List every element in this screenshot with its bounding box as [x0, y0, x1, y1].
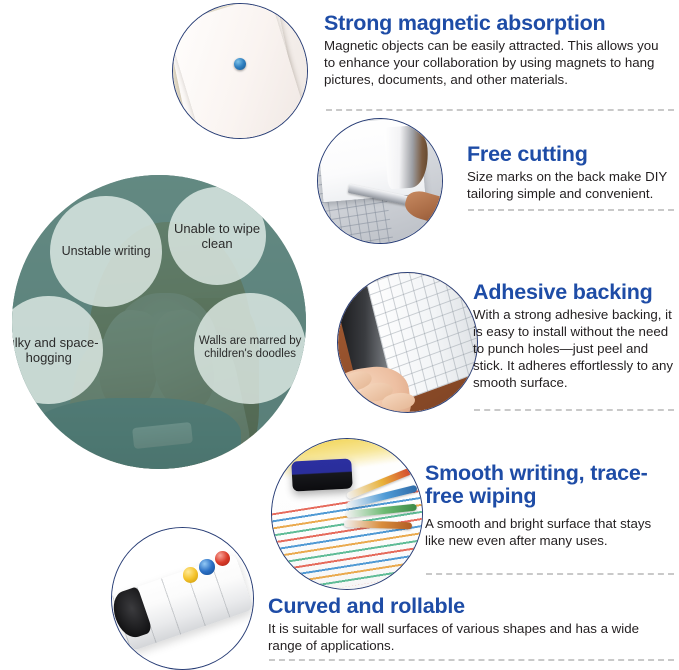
feature-body-free-cutting: Size marks on the back make DIY tailorin…: [467, 169, 672, 203]
whiteboard-eraser: [291, 458, 352, 491]
feature-title-smooth-writing: Smooth writing, trace-free wiping: [425, 462, 665, 508]
feature-text-curved-rollable: Curved and rollable It is suitable for w…: [268, 595, 676, 655]
feature-title-adhesive-backing: Adhesive backing: [473, 281, 679, 304]
feature-text-free-cutting: Free cutting Size marks on the back make…: [467, 143, 677, 203]
divider-5: [269, 659, 674, 661]
feature-photo-magnetic: [172, 3, 308, 139]
feature-title-curved-rollable: Curved and rollable: [268, 595, 676, 618]
pain-points-circle: Unstable writing Unable to wipe clean Bu…: [12, 175, 306, 469]
blue-magnet-dot: [234, 58, 246, 70]
feature-text-smooth-writing: Smooth writing, trace-free wiping A smoo…: [425, 462, 675, 550]
feature-text-magnetic: Strong magnetic absorption Magnetic obje…: [324, 12, 676, 89]
yellow-magnet: [183, 567, 199, 583]
feature-photo-curved-rollable: [111, 527, 254, 670]
feature-body-adhesive-backing: With a strong adhesive backing, it is ea…: [473, 307, 675, 391]
divider-3: [474, 409, 674, 411]
infographic-canvas: Unstable writing Unable to wipe clean Bu…: [0, 0, 679, 669]
divider-1: [326, 109, 674, 111]
feature-photo-free-cutting: [317, 118, 443, 244]
pain-bubble-label: Walls are marred by children's doodles: [194, 335, 306, 362]
pain-bubble-label: Unable to wipe clean: [168, 221, 266, 251]
feature-title-magnetic: Strong magnetic absorption: [324, 12, 676, 35]
feature-body-magnetic: Magnetic objects can be easily attracted…: [324, 38, 667, 89]
feature-title-free-cutting: Free cutting: [467, 143, 677, 166]
divider-4: [426, 573, 674, 575]
pain-bubble-unable-to-wipe-clean: Unable to wipe clean: [168, 187, 266, 285]
feature-body-curved-rollable: It is suitable for wall surfaces of vari…: [268, 621, 668, 655]
pain-bubble-unstable-writing: Unstable writing: [50, 196, 162, 308]
pain-bubble-label: Bulky and space-hogging: [12, 335, 103, 365]
feature-photo-adhesive-backing: [337, 272, 478, 413]
blue-magnet: [199, 559, 215, 575]
pain-bubble-label: Unstable writing: [58, 244, 155, 259]
feature-text-adhesive-backing: Adhesive backing With a strong adhesive …: [473, 281, 679, 392]
feature-body-smooth-writing: A smooth and bright surface that stays l…: [425, 516, 671, 550]
divider-2: [468, 209, 674, 211]
pain-bubble-walls-marred-doodles: Walls are marred by children's doodles: [194, 293, 306, 405]
feature-photo-smooth-writing: [271, 438, 423, 590]
